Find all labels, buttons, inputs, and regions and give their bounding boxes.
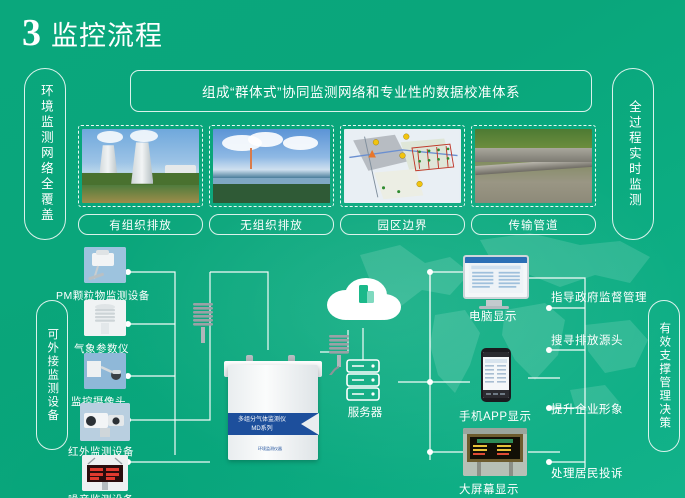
card-label: 园区边界 <box>340 214 465 235</box>
cabinet-body: 多组分气体监测仪 MD系列 环境监测仪器 <box>228 365 318 460</box>
weather-parameter-sensor-icon <box>84 300 126 336</box>
connector-dot <box>427 449 433 455</box>
server-label: 服务器 <box>330 404 400 420</box>
card-photo-frame <box>209 125 334 207</box>
outcome-label: 提升企业形象 <box>551 401 623 417</box>
vtab-decision-support-label: 有效支撑管理决策 <box>657 322 671 430</box>
outcome-label: 指导政府监督管理 <box>551 289 647 305</box>
gas-monitoring-cabinet: 多组分气体监测仪 MD系列 环境监测仪器 <box>228 355 318 460</box>
section-title: 监控流程 <box>51 14 163 53</box>
infrared-monitor-icon <box>80 403 130 441</box>
desktop-monitor-icon <box>463 255 525 303</box>
card-photo-frame <box>340 125 465 207</box>
connector-dot <box>427 269 433 275</box>
data-transmission-cloud-icon <box>322 277 404 327</box>
outcome-label: 处理居民投诉 <box>551 465 623 481</box>
cloud-label: 数据传输网络 <box>322 305 404 317</box>
display-label: 电脑显示 <box>469 308 517 324</box>
industrial-skyline-smokestacks-photo <box>213 129 330 203</box>
cabinet-subtitle: MD系列 <box>232 425 292 434</box>
card-organized-emission[interactable]: 有组织排放 <box>78 125 203 235</box>
card-unorganized-emission[interactable]: 无组织排放 <box>209 125 334 235</box>
cabinet-title: 多组分气体监测仪 <box>232 416 292 425</box>
power-plant-cooling-towers-photo <box>82 129 199 203</box>
weather-sensor-left-icon <box>190 300 216 344</box>
card-photo-frame <box>78 125 203 207</box>
card-transport-pipeline[interactable]: 传输管道 <box>471 125 596 235</box>
card-label: 无组织排放 <box>209 214 334 235</box>
outcome-label: 搜寻排放源头 <box>551 332 623 348</box>
vtab-network-coverage-label: 环境监测网络全覆盖 <box>37 84 53 224</box>
surveillance-camera-icon <box>84 353 126 389</box>
vtab-network-coverage: 环境监测网络全覆盖 <box>24 68 66 240</box>
vtab-external-devices-label: 可外接监测设备 <box>45 328 59 423</box>
device-label: 噪音监测设备 <box>68 492 134 498</box>
banner-statement-text: 组成“群体式”协同监测网络和专业性的数据校准体系 <box>202 81 520 101</box>
led-billboard-icon <box>463 428 527 476</box>
connector-dot <box>546 305 552 311</box>
cabinet-logo: 环境监测仪器 <box>258 446 282 452</box>
poster-canvas: 3 监控流程 环境监测网络全覆盖 全过程实时监测 可外接监测设备 有效支撑管理决… <box>0 0 685 498</box>
industrial-park-boundary-map <box>344 129 461 203</box>
noise-monitor-display-icon <box>82 455 128 491</box>
cabinet-title-text: 多组分气体监测仪 MD系列 <box>232 416 292 434</box>
transport-pipeline-photo <box>475 129 592 203</box>
card-park-boundary[interactable]: 园区边界 <box>340 125 465 235</box>
section-number: 3 <box>22 14 41 52</box>
pm-particulate-sensor-icon <box>84 247 126 283</box>
vtab-realtime-monitoring-label: 全过程实时监测 <box>625 100 641 209</box>
server-icon <box>344 358 382 402</box>
connector-dot <box>427 379 433 385</box>
page-title: 3 监控流程 <box>22 14 163 53</box>
card-photo-frame <box>471 125 596 207</box>
banner-statement: 组成“群体式”协同监测网络和专业性的数据校准体系 <box>130 70 592 112</box>
vtab-external-devices: 可外接监测设备 <box>36 300 68 450</box>
vtab-realtime-monitoring: 全过程实时监测 <box>612 68 654 240</box>
display-label: 手机APP显示 <box>459 408 532 424</box>
card-label: 传输管道 <box>471 214 596 235</box>
vtab-decision-support: 有效支撑管理决策 <box>648 300 680 452</box>
card-label: 有组织排放 <box>78 214 203 235</box>
mobile-phone-icon <box>481 348 511 402</box>
display-label: 大屏幕显示 <box>459 481 519 497</box>
